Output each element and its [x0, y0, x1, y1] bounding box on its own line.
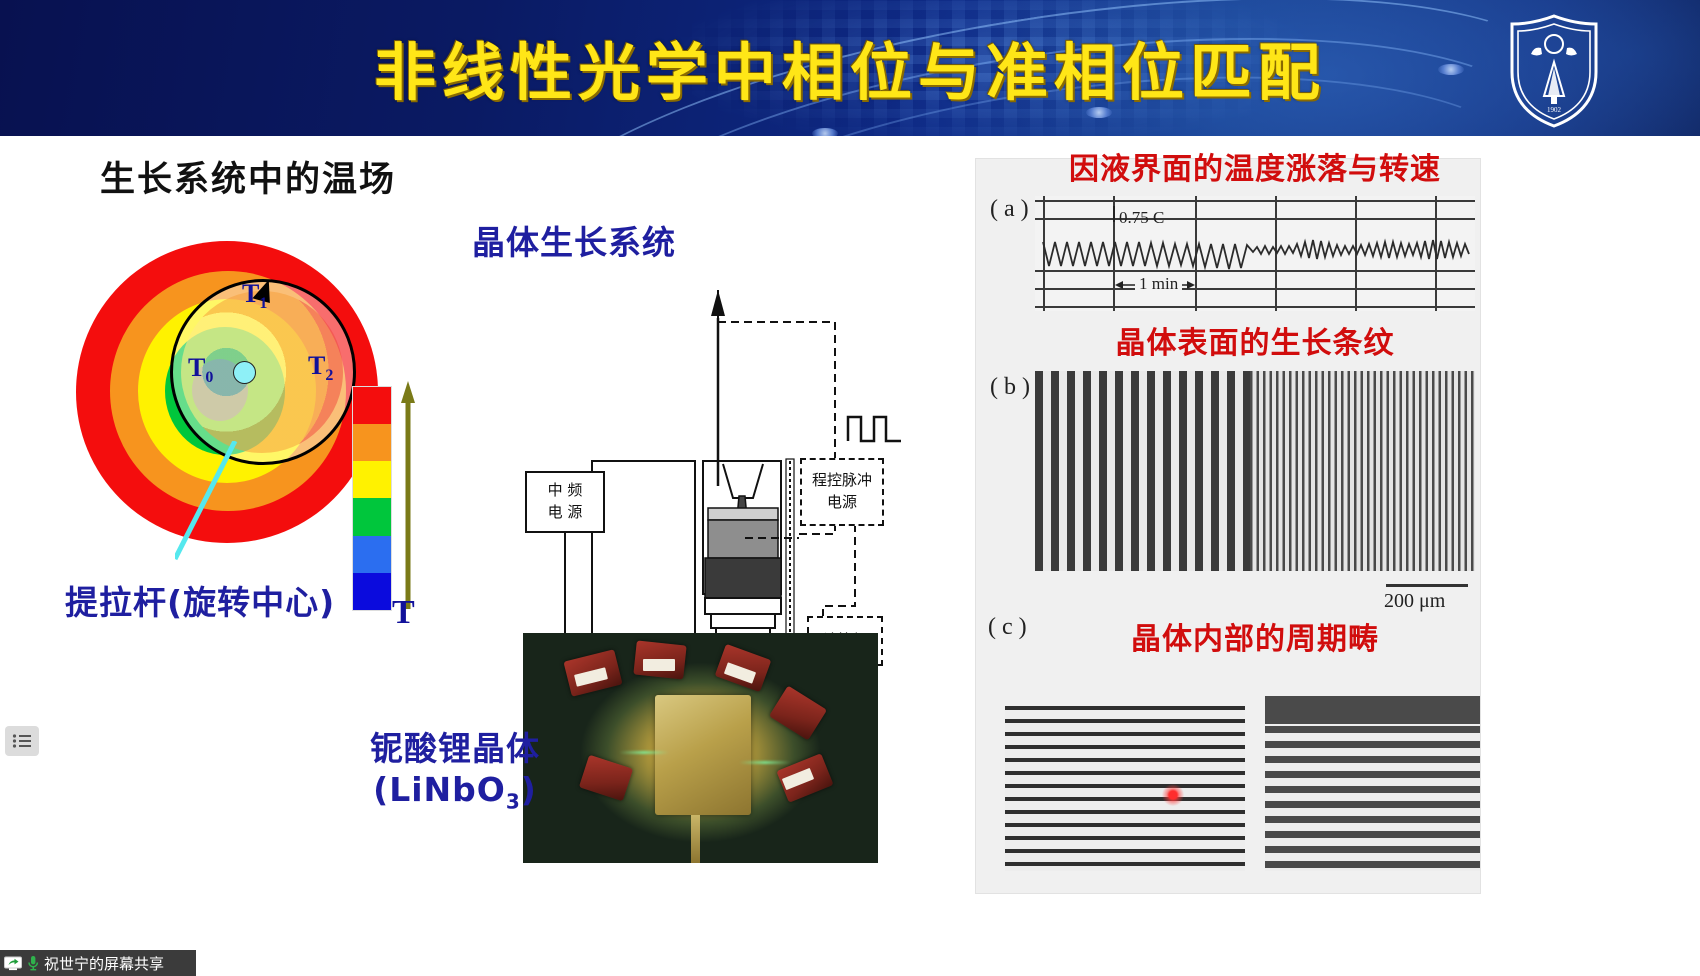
scale-bar-label: 200 μm	[1384, 590, 1445, 613]
colorbar-seg-lightblue	[353, 536, 391, 573]
figure-c-domains-right	[1265, 696, 1480, 871]
heading-temperature-fluctuation: 因液界面的温度涨落与转速	[1040, 144, 1470, 188]
colorbar-seg-green	[353, 498, 391, 535]
left-section-title: 生长系统中的温场	[100, 151, 396, 202]
screen-share-status-bar: 祝世宁的屏幕共享	[0, 950, 196, 976]
box-mid-frequency-power-line1: 中 频	[548, 480, 583, 502]
slide-body: 生长系统中的温场 T0 T1 T2 T 提拉杆(旋转中心) 晶体生长系统	[0, 136, 1700, 946]
panel-a-letter: ( a )	[990, 196, 1029, 223]
crystal-caption-line1: 铌酸锂晶体	[345, 728, 565, 769]
box-programmed-pulse-power-line2: 电源	[812, 492, 872, 514]
domain-stripes-left	[1005, 706, 1245, 871]
temperature-up-arrow-icon	[398, 381, 418, 613]
label-T1: T1	[242, 279, 267, 313]
domain-block-top	[1265, 696, 1480, 724]
figure-b-growth-striations	[1035, 371, 1475, 571]
heading-growth-striations: 晶体表面的生长条纹	[1040, 318, 1470, 362]
box-mid-frequency-power-line2: 电 源	[548, 502, 583, 524]
slide-banner: 非线性光学中相位与准相位匹配 1902	[0, 0, 1700, 136]
colorbar-seg-red	[353, 387, 391, 424]
schematic-title: 晶体生长系统	[472, 216, 676, 264]
box-programmed-pulse-power: 程控脉冲 电源	[800, 458, 884, 526]
panel-b-letter: ( b )	[990, 374, 1030, 401]
pull-rod-caption: 提拉杆(旋转中心)	[65, 576, 335, 624]
amplitude-scale-label: 0.75 C	[1119, 208, 1164, 228]
microphone-icon[interactable]	[27, 955, 39, 971]
thumbnail-list-button[interactable]	[5, 726, 39, 756]
colorbar-axis-label: T	[392, 594, 415, 632]
colorbar-seg-yellow	[353, 461, 391, 498]
crystal-stem	[691, 815, 700, 863]
figure-a-chart-trace: 0.75 C 1 min	[1035, 196, 1475, 311]
screen-share-status-text: 祝世宁的屏幕共享	[44, 953, 164, 974]
list-icon	[12, 733, 32, 749]
crystal-photo-caption: 铌酸锂晶体 (LiNbO3)	[345, 728, 565, 815]
green-beam-right	[739, 761, 791, 764]
screen-share-icon[interactable]	[4, 956, 22, 971]
figure-c-domains-left	[1005, 706, 1245, 871]
striations-fine	[1250, 371, 1475, 571]
panel-c-letter: ( c )	[988, 614, 1027, 641]
striations-coarse	[1035, 371, 1250, 571]
label-T0: T0	[188, 353, 213, 387]
amplitude-tick	[1113, 206, 1115, 222]
crystal-caption-line2: (LiNbO3)	[345, 769, 565, 815]
nanjing-university-crest-icon: 1902	[1494, 10, 1614, 130]
crystal-boule	[655, 695, 751, 815]
temperature-colorbar	[352, 386, 392, 611]
scale-bar	[1386, 584, 1468, 587]
crest-year: 1902	[1547, 106, 1562, 114]
colorbar-seg-orange	[353, 424, 391, 461]
box-mid-frequency-power: 中 频 电 源	[525, 471, 605, 533]
laser-pointer-dot	[1162, 784, 1184, 806]
box-programmed-pulse-power-line1: 程控脉冲	[812, 470, 872, 492]
page-title: 非线性光学中相位与准相位匹配	[0, 22, 1700, 112]
time-scale-label: 1 min	[1135, 274, 1182, 294]
heading-periodic-domains: 晶体内部的周期畴	[1040, 614, 1470, 658]
domain-stripes-right	[1265, 726, 1480, 871]
chart-trace-line	[1035, 196, 1475, 311]
banner-node-3	[812, 128, 838, 136]
green-beam-left	[619, 751, 669, 754]
crystal-holder-4	[769, 686, 827, 741]
crystal-label-2	[643, 659, 675, 671]
label-T2: T2	[308, 351, 333, 385]
lithium-niobate-crystal-photo	[523, 633, 878, 863]
colorbar-seg-blue	[353, 573, 391, 610]
rotation-center-dot	[233, 361, 256, 384]
crystal-holder-6	[579, 755, 633, 802]
